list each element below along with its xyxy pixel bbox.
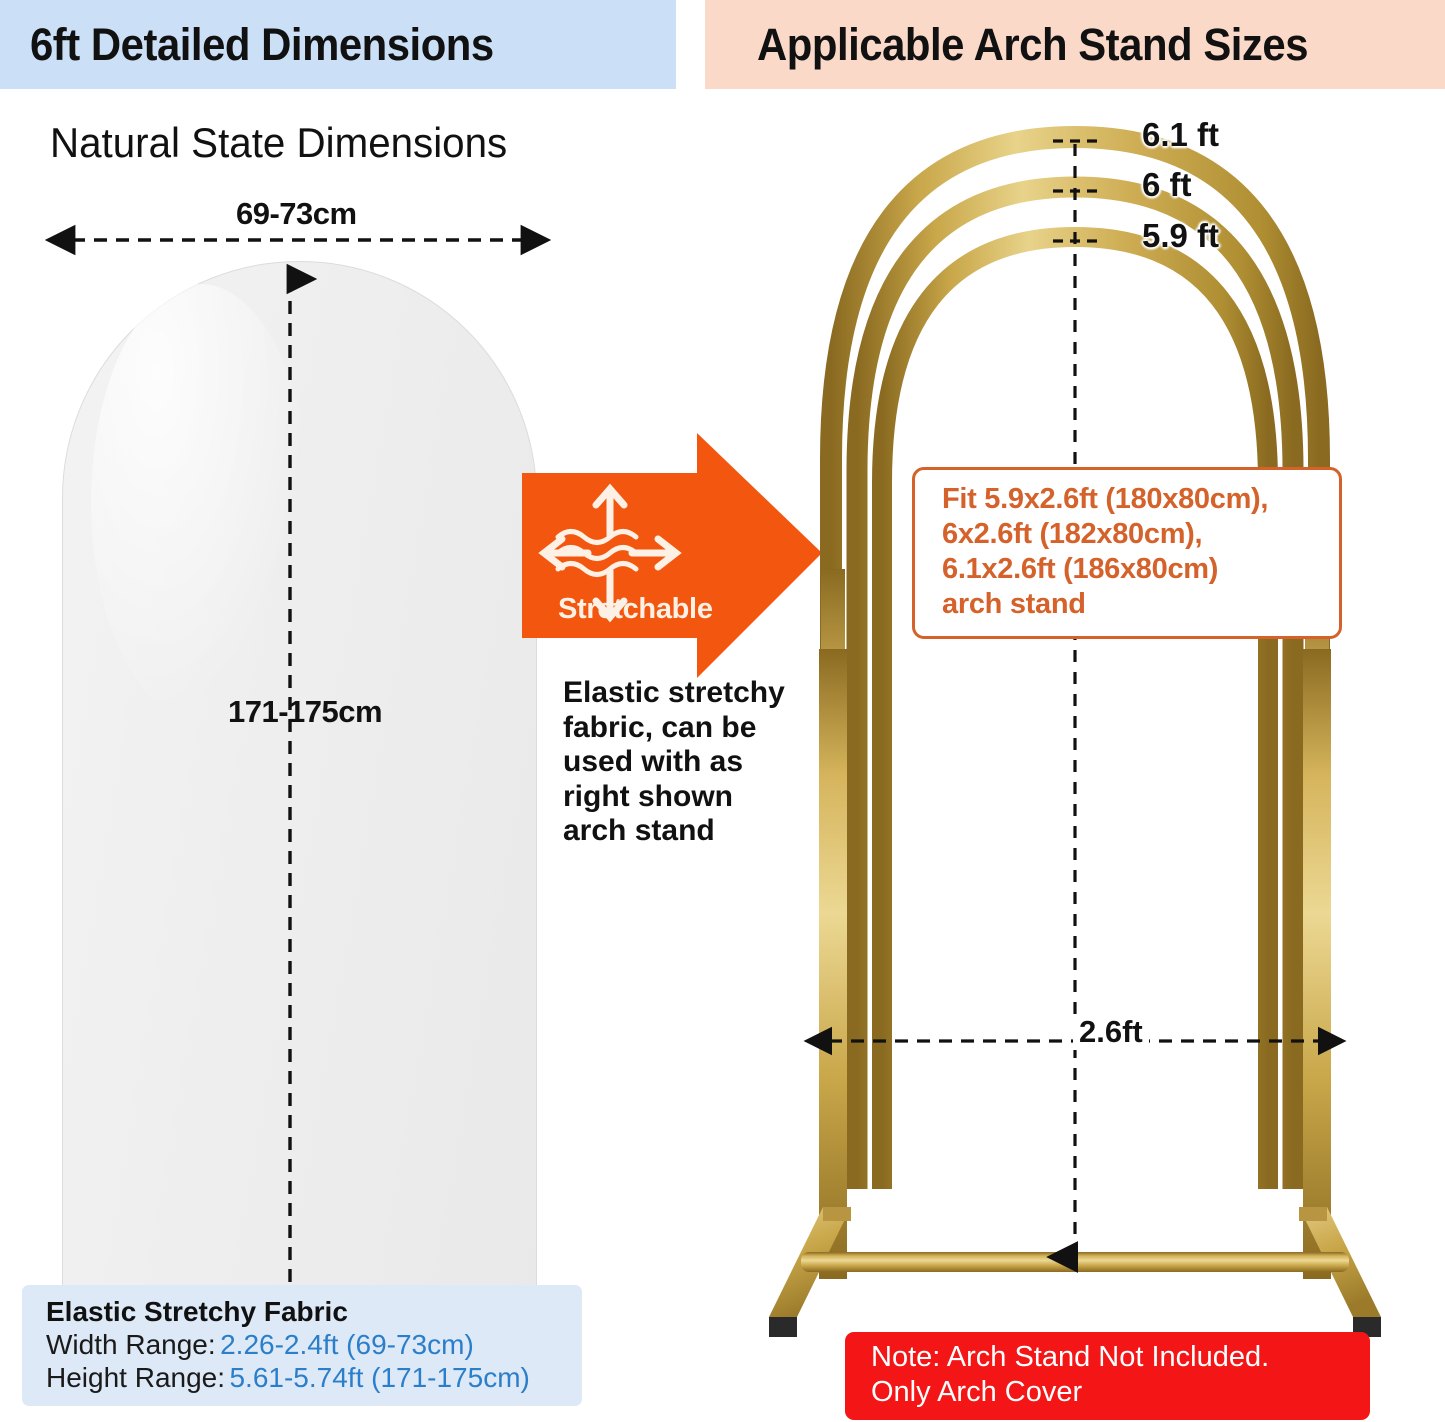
infographic-root: 6ft Detailed Dimensions Applicable Arch …: [0, 0, 1445, 1422]
right-panel: 6.1 ft 6 ft 5.9 ft Fit 5.9x2.6ft (180x80…: [705, 89, 1445, 1422]
stretchable-label: Stretchable: [558, 593, 713, 626]
fit-line-4: arch stand: [942, 587, 1339, 622]
header-left: 6ft Detailed Dimensions: [0, 0, 676, 89]
foot-left: [769, 1207, 851, 1337]
fabric-width-label: 69-73cm: [236, 196, 357, 232]
arch-stand-illustration: [705, 89, 1445, 1422]
note-line-1: Note: Arch Stand Not Included.: [871, 1340, 1370, 1375]
base-crossbar: [801, 1252, 1349, 1272]
leg-left: [821, 569, 845, 1269]
arch-tick-marks: [1053, 141, 1100, 241]
natural-state-subtitle: Natural State Dimensions: [50, 119, 507, 167]
fit-line-3: 6.1x2.6ft (186x80cm): [942, 552, 1339, 587]
header-right: Applicable Arch Stand Sizes: [705, 0, 1445, 89]
stand-width-label: 2.6ft: [1073, 1014, 1149, 1050]
fit-sizes-box: Fit 5.9x2.6ft (180x80cm), 6x2.6ft (182x8…: [912, 467, 1342, 639]
arch-label-59ft: 5.9 ft: [1142, 217, 1219, 255]
fabric-width-row: Width Range: 2.26-2.4ft (69-73cm): [46, 1328, 582, 1361]
fabric-info-title-row: Elastic Stretchy Fabric: [46, 1295, 582, 1328]
fabric-width-key: Width Range:: [46, 1329, 216, 1360]
fabric-height-label: 171-175cm: [228, 694, 382, 730]
header-left-title: 6ft Detailed Dimensions: [30, 19, 494, 71]
header-right-title: Applicable Arch Stand Sizes: [757, 19, 1308, 71]
fit-line-2: 6x2.6ft (182x80cm),: [942, 517, 1339, 552]
fabric-height-key: Height Range:: [46, 1362, 225, 1393]
fabric-info-box: Elastic Stretchy Fabric Width Range: 2.2…: [22, 1285, 582, 1406]
leg-right: [1305, 569, 1329, 1269]
fabric-arch-shape: [62, 261, 537, 1354]
arch-label-61ft: 6.1 ft: [1142, 116, 1219, 154]
fabric-height-row: Height Range: 5.61-5.74ft (171-175cm): [46, 1361, 582, 1394]
fabric-info-title: Elastic Stretchy Fabric: [46, 1296, 348, 1327]
fit-line-1: Fit 5.9x2.6ft (180x80cm),: [942, 482, 1339, 517]
foot-right: [1299, 1207, 1381, 1337]
fabric-width-value: 2.26-2.4ft (69-73cm): [220, 1329, 474, 1360]
not-included-note: Note: Arch Stand Not Included. Only Arch…: [845, 1332, 1370, 1420]
fabric-height-value: 5.61-5.74ft (171-175cm): [229, 1362, 529, 1393]
arch-label-6ft: 6 ft: [1142, 166, 1192, 204]
note-line-2: Only Arch Cover: [871, 1375, 1370, 1410]
